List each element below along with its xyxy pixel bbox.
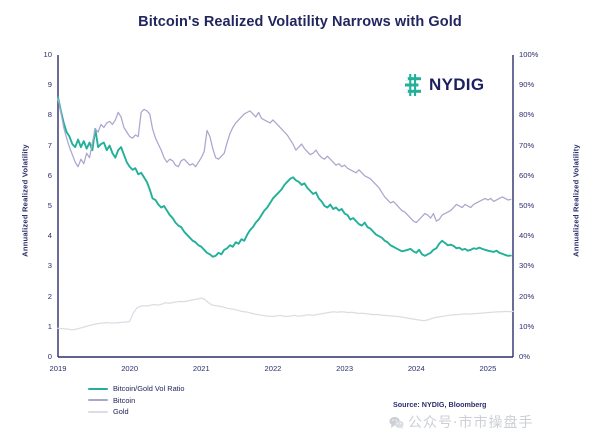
nydig-bitcoin-mark-icon — [404, 74, 423, 96]
y-tick-right: 100% — [519, 50, 553, 59]
y-tick-left: 9 — [26, 80, 52, 89]
series-line-gold — [58, 298, 513, 330]
legend-item[interactable]: Bitcoin/Gold Vol Ratio — [88, 383, 184, 395]
x-tick: 2020 — [108, 364, 152, 373]
y-tick-left: 7 — [26, 141, 52, 150]
legend-label: Bitcoin/Gold Vol Ratio — [113, 384, 184, 393]
y-tick-right: 50% — [519, 201, 553, 210]
y-tick-left: 2 — [26, 292, 52, 301]
chart-svg — [0, 0, 600, 444]
nydig-logo: NYDIG — [404, 74, 484, 96]
plot-area: 012345678910 0%10%20%30%40%50%60%70%80%9… — [0, 0, 600, 444]
x-tick: 2024 — [394, 364, 438, 373]
legend-swatch — [88, 388, 108, 390]
legend-item[interactable]: Gold — [88, 406, 184, 418]
y-tick-left: 8 — [26, 110, 52, 119]
y-axis-left-title: Annualized Realized Volatility — [21, 121, 30, 281]
y-tick-left: 10 — [26, 50, 52, 59]
y-tick-right: 70% — [519, 141, 553, 150]
y-tick-left: 0 — [26, 352, 52, 361]
y-tick-right: 80% — [519, 110, 553, 119]
legend-swatch — [88, 411, 108, 413]
y-tick-left: 3 — [26, 261, 52, 270]
y-tick-right: 60% — [519, 171, 553, 180]
legend-label: Gold — [113, 407, 129, 416]
series-lines — [58, 97, 513, 330]
axis-lines — [58, 55, 513, 357]
y-tick-left: 5 — [26, 201, 52, 210]
x-tick: 2019 — [36, 364, 80, 373]
source-note: Source: NYDIG, Bloomberg — [393, 400, 486, 409]
series-line-bitcoin-gold-vol-ratio — [58, 97, 511, 256]
y-tick-right: 20% — [519, 292, 553, 301]
x-tick: 2025 — [466, 364, 510, 373]
y-axis-right-title: Annualized Realized Volatility — [572, 121, 581, 281]
watermark-text: 公众号·市市操盘手 — [408, 412, 533, 432]
y-tick-right: 0% — [519, 352, 553, 361]
y-tick-left: 6 — [26, 171, 52, 180]
y-tick-right: 40% — [519, 231, 553, 240]
x-tick: 2021 — [179, 364, 223, 373]
x-tick: 2022 — [251, 364, 295, 373]
chart-legend: Bitcoin/Gold Vol RatioBitcoinGold — [88, 383, 184, 418]
legend-item[interactable]: Bitcoin — [88, 395, 184, 407]
nydig-wordmark: NYDIG — [429, 75, 484, 95]
wechat-icon — [389, 416, 404, 429]
legend-label: Bitcoin — [113, 396, 135, 405]
x-tick: 2023 — [323, 364, 367, 373]
y-tick-right: 30% — [519, 261, 553, 270]
y-tick-left: 4 — [26, 231, 52, 240]
y-tick-right: 10% — [519, 322, 553, 331]
y-tick-right: 90% — [519, 80, 553, 89]
chart-root: Bitcoin's Realized Volatility Narrows wi… — [0, 0, 600, 444]
y-tick-left: 1 — [26, 322, 52, 331]
watermark: 公众号·市市操盘手 — [389, 412, 533, 432]
legend-swatch — [88, 399, 108, 401]
